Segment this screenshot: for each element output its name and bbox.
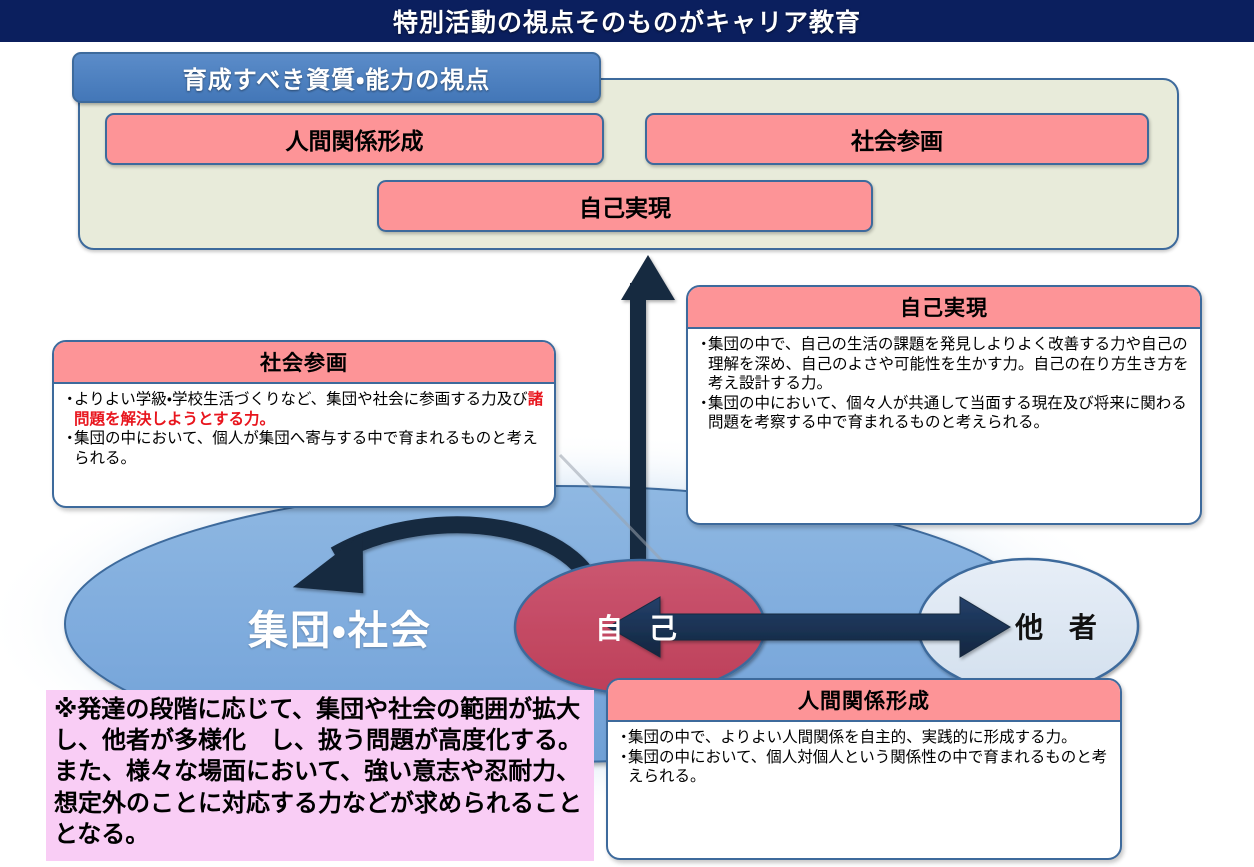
card-social-participation[interactable]: 社会参画 よりよい学級・学校生活づくりなど、集団や社会に参画する力及び諸問題を解… [52,340,556,508]
card-body-self-realization: 集団の中で、自己の生活の課題を発見しよりよく改善する力や自己の理解を深め、自己の… [688,329,1200,439]
card-bullet: よりよい学級・学校生活づくりなど、集団や社会に参画する力及び諸問題を解決しようと… [63,390,546,429]
card-bullet: 集団の中で、よりよい人間関係を自主的、実践的に形成する力。 [617,728,1112,748]
capability-bar-human-relations[interactable]: 人間関係形成 [105,113,604,165]
card-bullet: 集団の中において、個人が集団へ寄与する中で育まれるものと考えられる。 [63,429,546,468]
card-body-social-participation: よりよい学級・学校生活づくりなど、集団や社会に参画する力及び諸問題を解決しようと… [54,384,554,474]
card-bullet: 集団の中において、個々人が共通して当面する現在及び将来に関わる問題を考察する中で… [697,394,1192,433]
slide-canvas: 特別活動の視点そのものがキャリア教育 [0,0,1254,867]
card-body-human-relations: 集団の中で、よりよい人間関係を自主的、実践的に形成する力。集団の中において、個人… [608,722,1120,793]
bullet-text: 集団の中において、個人対個人という関係性の中で育まれるものと考えられる。 [628,748,1107,786]
top-framework-label: 育成すべき資質・能力の視点 [72,52,601,103]
card-human-relations[interactable]: 人間関係形成 集団の中で、よりよい人間関係を自主的、実践的に形成する力。集団の中… [606,678,1122,860]
card-self-realization[interactable]: 自己実現 集団の中で、自己の生活の課題を発見しよりよく改善する力や自己の理解を深… [686,285,1202,525]
card-title-human-relations: 人間関係形成 [608,680,1120,722]
capability-bar-social-participation[interactable]: 社会参画 [645,113,1149,165]
card-title-social-participation: 社会参画 [54,342,554,384]
capability-bar-self-realization[interactable]: 自己実現 [377,180,873,232]
card-bullet: 集団の中において、個人対個人という関係性の中で育まれるものと考えられる。 [617,748,1112,787]
bullet-text: 集団の中で、よりよい人間関係を自主的、実践的に形成する力。 [628,728,1077,746]
bullet-text: 集団の中において、個々人が共通して当面する現在及び将来に関わる問題を考察する中で… [708,394,1187,432]
development-stage-note: ※発達の段階に応じて、集団や社会の範囲が拡大し、他者が多様化 し、扱う問題が高度… [46,690,594,861]
development-stage-note-text: ※発達の段階に応じて、集団や社会の範囲が拡大し、他者が多様化 し、扱う問題が高度… [54,694,586,850]
card-title-self-realization: 自己実現 [688,287,1200,329]
bullet-text: 集団の中で、自己の生活の課題を発見しよりよく改善する力や自己の理解を深め、自己の… [708,335,1189,392]
bullet-text: よりよい学級・学校生活づくりなど、集団や社会に参画する力及び [74,390,528,408]
bullet-text: 集団の中において、個人が集団へ寄与する中で育まれるものと考えられる。 [74,429,538,467]
card-bullet: 集団の中で、自己の生活の課題を発見しよりよく改善する力や自己の理解を深め、自己の… [697,335,1192,394]
